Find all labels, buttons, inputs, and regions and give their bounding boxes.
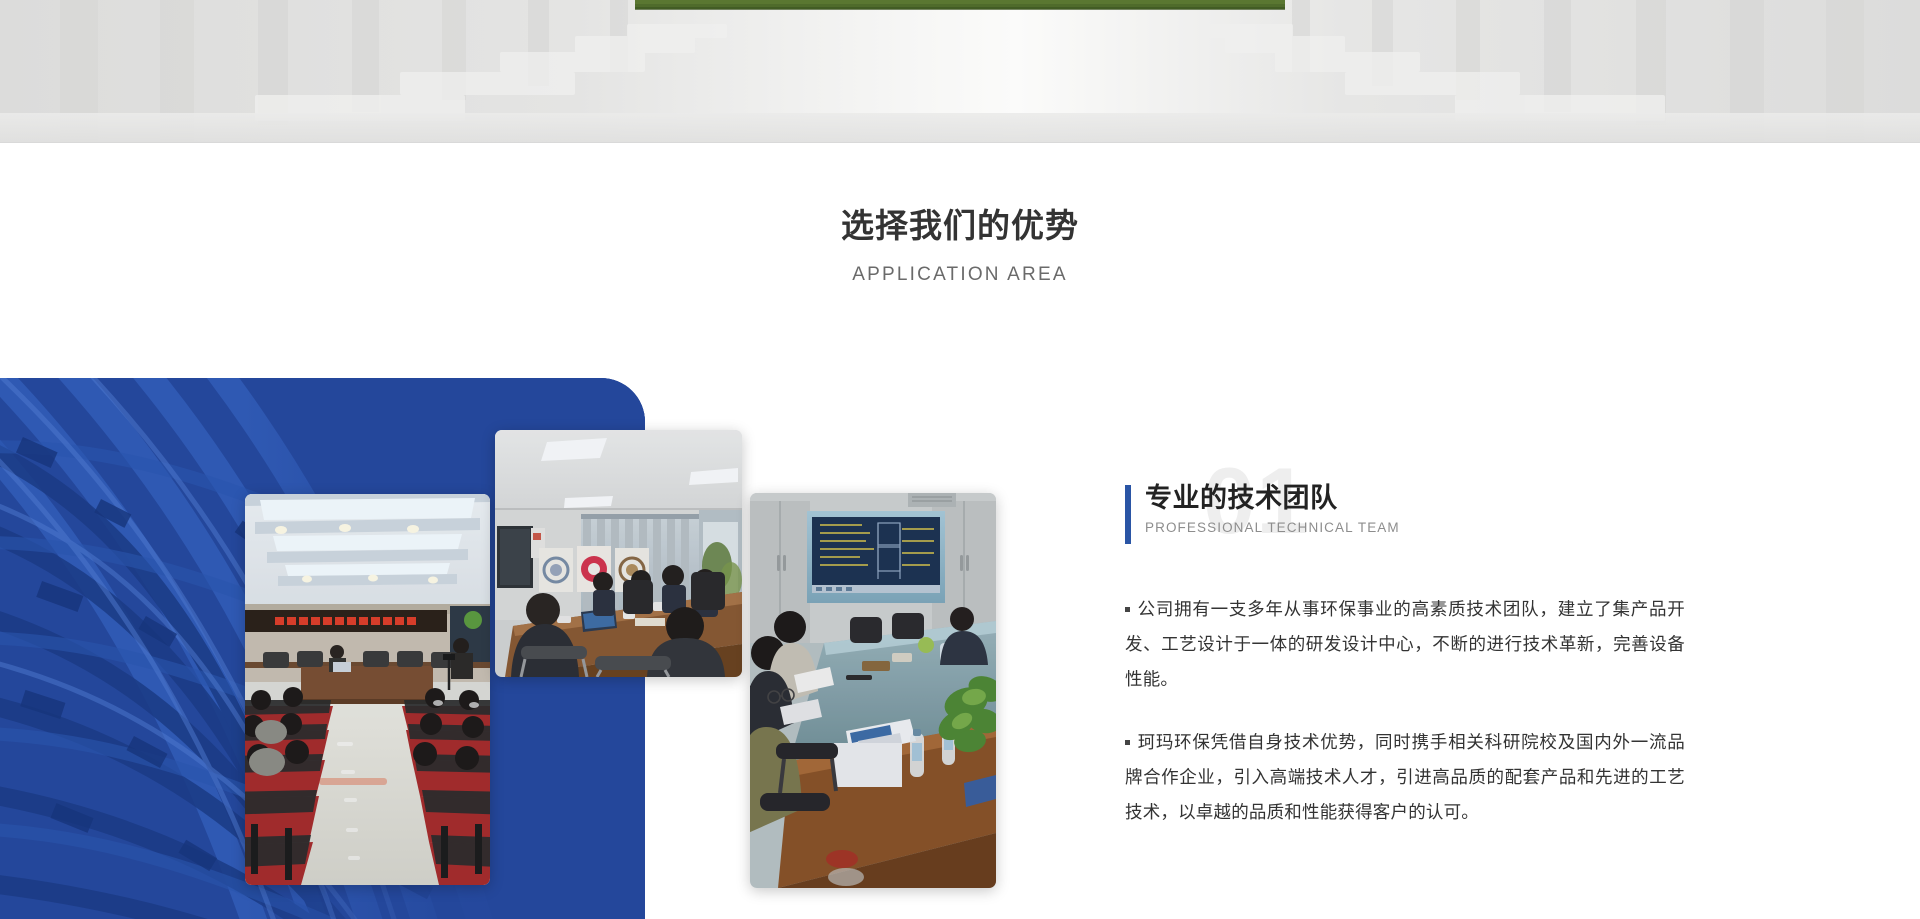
- projector-presentation-photo: [750, 493, 996, 888]
- auditorium-conference-photo: [245, 494, 490, 885]
- heading-text-wrap: 专业的技术团队 PROFESSIONAL TECHNICAL TEAM: [1145, 480, 1400, 535]
- meeting-room-photo-illustration: [495, 430, 742, 677]
- feature-content-block: 01 专业的技术团队 PROFESSIONAL TECHNICAL TEAM 公…: [1125, 480, 1685, 830]
- feature-paragraphs: 公司拥有一支多年从事环保事业的高素质技术团队，建立了集产品开发、工艺设计于一体的…: [1125, 592, 1685, 830]
- page-root: 选择我们的优势 APPLICATION AREA: [0, 0, 1920, 919]
- page-subtitle: APPLICATION AREA: [0, 264, 1920, 286]
- hero-banner-image: [0, 0, 1920, 143]
- bullet-square-icon: [1125, 607, 1130, 612]
- feature-paragraph-1: 公司拥有一支多年从事环保事业的高素质技术团队，建立了集产品开发、工艺设计于一体的…: [1125, 592, 1685, 697]
- banner-illustration: [0, 0, 1920, 143]
- feature-title-cn: 专业的技术团队: [1145, 480, 1400, 516]
- feature-heading-group: 01 专业的技术团队 PROFESSIONAL TECHNICAL TEAM: [1125, 480, 1685, 562]
- auditorium-photo-illustration: [245, 494, 490, 885]
- bullet-square-icon: [1125, 740, 1130, 745]
- projector-photo-illustration: [750, 493, 996, 888]
- feature-paragraph-2: 珂玛环保凭借自身技术优势，同时携手相关科研院校及国内外一流品牌合作企业，引入高端…: [1125, 725, 1685, 830]
- heading-accent-bar: [1125, 485, 1131, 544]
- grass-strip: [635, 0, 1285, 10]
- meeting-room-photo: [495, 430, 742, 677]
- page-title: 选择我们的优势: [0, 205, 1920, 246]
- paragraph-1-text: 公司拥有一支多年从事环保事业的高素质技术团队，建立了集产品开发、工艺设计于一体的…: [1125, 599, 1685, 689]
- banner-divider: [0, 142, 1920, 143]
- section-header: 选择我们的优势 APPLICATION AREA: [0, 205, 1920, 286]
- feature-title-en: PROFESSIONAL TECHNICAL TEAM: [1145, 520, 1400, 535]
- paragraph-2-text: 珂玛环保凭借自身技术优势，同时携手相关科研院校及国内外一流品牌合作企业，引入高端…: [1125, 732, 1685, 822]
